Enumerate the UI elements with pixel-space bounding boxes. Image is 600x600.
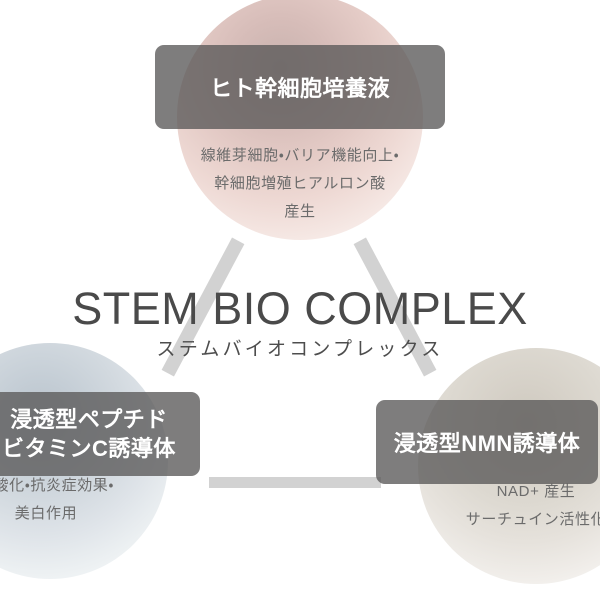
connector-left-to-right — [209, 477, 381, 488]
node-label-penetrating-nmn-derivative[interactable]: 浸透型NMN誘導体 — [376, 400, 598, 484]
page-title: STEM BIO COMPLEX — [0, 286, 600, 331]
node-description-penetrating-peptide-vitamin-c: 抗酸化・抗炎症効果・ 美白作用 — [0, 472, 162, 528]
node-label-penetrating-peptide-vitamin-c[interactable]: 浸透型ペプチド ビタミンC誘導体 — [0, 392, 200, 476]
stem-bio-complex-diagram: 線維芽細胞・バリア機能向上・ 幹細胞増殖ヒアルロン酸 産生 ヒト幹細胞培養液 抗… — [0, 0, 600, 600]
node-label-human-stem-cell-culture-fluid[interactable]: ヒト幹細胞培養液 — [155, 45, 445, 129]
node-description-human-stem-cell-culture-fluid: 線維芽細胞・バリア機能向上・ 幹細胞増殖ヒアルロン酸 産生 — [150, 142, 450, 225]
node-description-penetrating-nmn-derivative: NAD+ 産生 サーチュイン活性化 — [420, 478, 600, 534]
page-subtitle: ステムバイオコンプレックス — [0, 340, 600, 359]
center-title-group: STEM BIO COMPLEX ステムバイオコンプレックス — [0, 286, 600, 359]
